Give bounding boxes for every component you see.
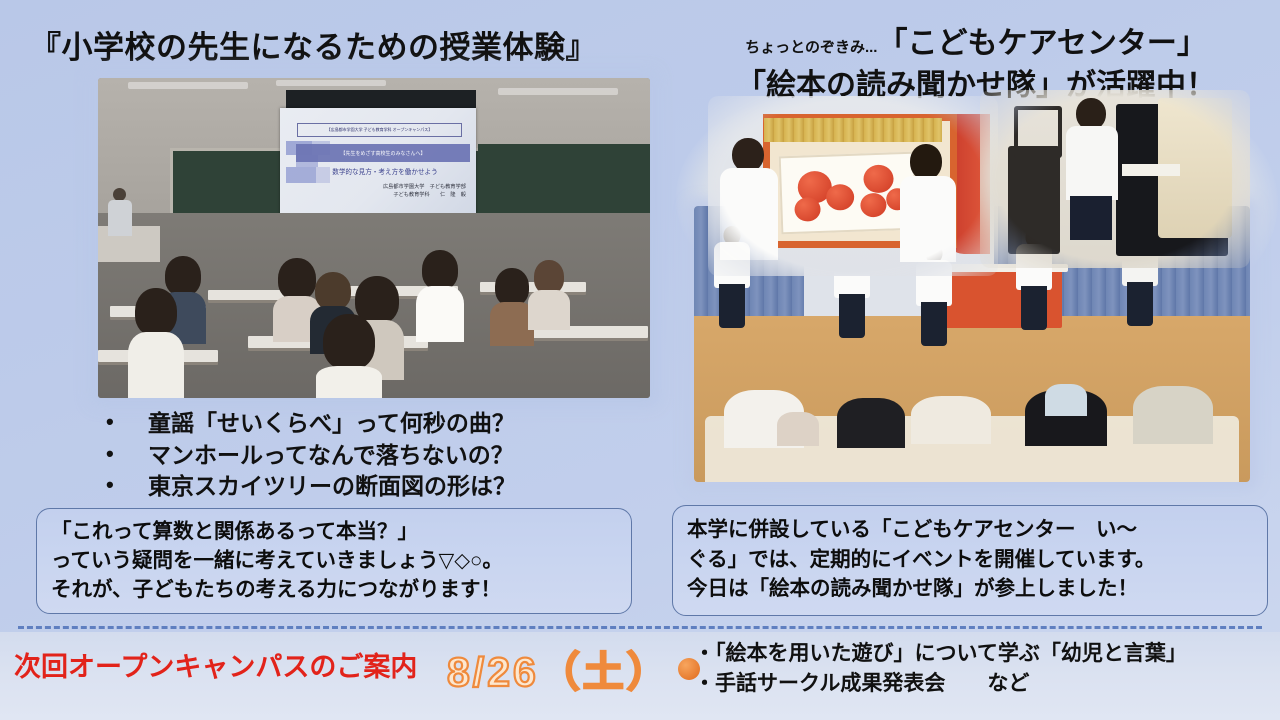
peek-label: ちょっとのぞきみ... [745, 36, 877, 62]
staff-reader-left [718, 138, 780, 258]
classroom-lecture-photo: 【広島都市学園大学 子ども教育学科 オープンキャンパス】 【先生をめざす高校生の… [98, 78, 650, 398]
collage-photo-piano [980, 90, 1250, 268]
student-figure [128, 288, 184, 398]
audience-member [910, 396, 992, 482]
open-campus-date: 8/26（土） [447, 638, 671, 698]
slide-band-text: 【先生をめざす高校生のみなさんへ】 [340, 150, 425, 157]
left-panel-title: 『小学校の先生になるための授業体験』 [30, 22, 640, 67]
slide-presenter-line-1: 広島都市学園大学 子ども教育学部 [383, 184, 466, 192]
slide-subtitle: 数学的な見方・考え方を働かせよう [300, 164, 470, 178]
student-figure [416, 250, 464, 342]
right-bubble-line-1: 本学に併設している「こどもケアセンター い〜 [687, 515, 1267, 545]
slide-header-bracket: 【広島都市学園大学 子ども教育学科 オープンキャンパス】 [297, 123, 462, 137]
audience-member [836, 398, 906, 482]
left-speech-bubble: 「これって算数と関係あるって本当？」 っていう疑問を一緒に考えていきましょう▽◇… [36, 508, 632, 614]
right-heading-line-1: 「こどもケアセンター」 [877, 18, 1206, 62]
left-bullet-list: 童謡「せいくらべ」って何秒の曲？ マンホールってなんで落ちないの？ 東京スカイツ… [96, 408, 616, 503]
gold-valance [764, 118, 942, 142]
bullet-item: マンホールってなんで落ちないの？ [96, 440, 616, 472]
left-bubble-line-1: 「これって算数と関係あるって本当？」 [51, 517, 631, 546]
collage-photo-picturebook [708, 96, 998, 276]
program-item: ・手話サークル成果発表会 など [694, 669, 1187, 699]
piano-chair [1008, 146, 1060, 254]
slide-presenter: 広島都市学園大学 子ども教育学部 子ども教育学科 仁 隆 毅 [383, 184, 466, 200]
student-figure [528, 260, 570, 330]
slide-root: 『小学校の先生になるための授業体験』 【広島都市学園大学 子ども教育学科 オープ… [0, 0, 1280, 720]
right-speech-bubble: 本学に併設している「こどもケアセンター い〜 ぐる」では、定期的にイベントを開催… [672, 505, 1268, 616]
program-item: ・「絵本を用いた遊び」について学ぶ「幼児と言葉」 [694, 639, 1187, 669]
ceiling-light-3 [498, 88, 618, 95]
ceiling-light-1 [128, 82, 248, 89]
picture-book-page [779, 152, 918, 235]
left-bubble-line-3: それが、子どもたちの考える力につながります！ [51, 575, 631, 604]
pianist-figure [1062, 98, 1120, 238]
audience-member [1132, 386, 1214, 482]
ceiling-light-2 [276, 80, 386, 86]
bullet-item: 東京スカイツリーの断面図の形は？ [96, 471, 616, 503]
right-bubble-line-2: ぐる」では、定期的にイベントを開催しています。 [687, 545, 1267, 575]
open-campus-program-list: ・「絵本を用いた遊び」について学ぶ「幼児と言葉」 ・手話サークル成果発表会 など [694, 639, 1187, 700]
open-campus-label: 次回オープンキャンパスのご案内 [14, 645, 417, 684]
slide-band: 【先生をめざす高校生のみなさんへ】 [296, 144, 470, 162]
slide-presenter-line-2: 子ども教育学科 仁 隆 毅 [383, 192, 466, 200]
audience-child-lifted [1044, 384, 1088, 440]
projector-screen-roller [286, 90, 476, 110]
staff-reader-right [900, 144, 960, 260]
bullet-item: 童謡「せいくらべ」って何秒の曲？ [96, 408, 616, 440]
childcare-center-collage [686, 88, 1258, 488]
student-figure [316, 314, 382, 398]
right-bubble-line-3: 今日は「絵本の読み聞かせ隊」が参上しました！ [687, 574, 1267, 604]
piano-keys [1122, 164, 1180, 176]
lecturer-figure [108, 188, 132, 236]
left-bubble-line-2: っていう疑問を一緒に考えていきましょう▽◇○。 [51, 546, 631, 575]
dashed-divider [18, 626, 1262, 629]
slide-subtitle-text: 数学的な見方・考え方を働かせよう [332, 166, 438, 176]
slide-header-text: 【広島都市学園大学 子ども教育学科 オープンキャンパス】 [327, 127, 432, 133]
audience-child [776, 412, 820, 470]
